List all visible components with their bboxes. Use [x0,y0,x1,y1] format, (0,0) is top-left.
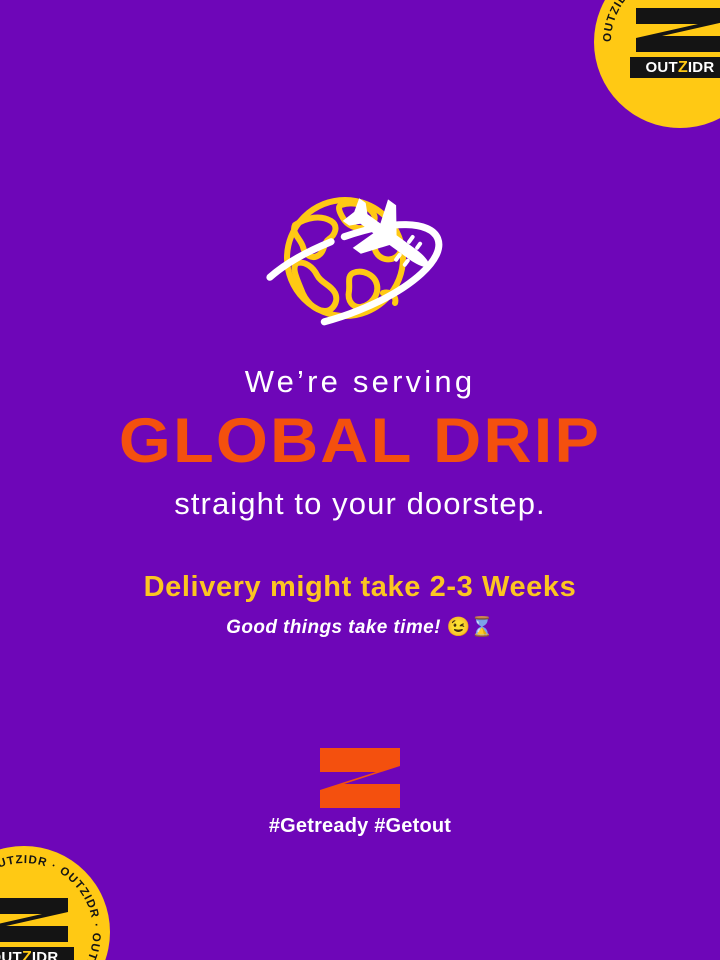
badge-wordmark-z-icon: Z [678,60,688,76]
brand-badge-top-right: OUTZIDR · OUTZIDR · OUTZIDR · OUTZIDR · … [594,0,720,128]
badge-wordmark-bar-top: OUTZIDR [630,57,720,78]
badge-wordmark-z-icon: Z [22,950,32,960]
reassurance-line: Good things take time! 😉⌛ [0,617,720,640]
badge-wordmark-part2: IDR [688,60,715,75]
headline-text: GLOBAL DRIP [0,410,720,473]
poster-copy-block: We’re serving GLOBAL DRIP straight to yo… [0,365,720,640]
badge-z-logo-icon [0,896,72,944]
badge-wordmark-part1: OUT [0,950,22,960]
brand-badge-bottom-left: OUTZIDR · OUTZIDR · OUTZIDR · OUTZIDR · … [0,846,110,960]
kicker-text: We’re serving [0,365,720,399]
subline-text: straight to your doorstep. [0,487,720,521]
badge-z-logo-icon [632,6,720,54]
globe-airplane-icon [235,181,485,341]
badge-wordmark-part2: IDR [32,950,59,960]
badge-core-bottom: OUTZIDR [0,896,76,960]
hashtags-text: #Getready #Getout [269,815,451,838]
badge-wordmark-part1: OUT [645,60,678,75]
badge-wordmark-bar-bottom: OUTZIDR [0,947,74,960]
wink-hourglass-emoji: 😉⌛ [447,617,494,638]
poster-footer: #Getready #Getout [0,748,720,838]
promo-poster: OUTZIDR · OUTZIDR · OUTZIDR · OUTZIDR · … [0,0,720,960]
badge-core-top: OUTZIDR [628,6,720,78]
reassurance-text: Good things take time! [226,617,441,638]
brand-z-logo-icon [320,748,400,808]
delivery-notice-text: Delivery might take 2-3 Weeks [0,572,720,604]
